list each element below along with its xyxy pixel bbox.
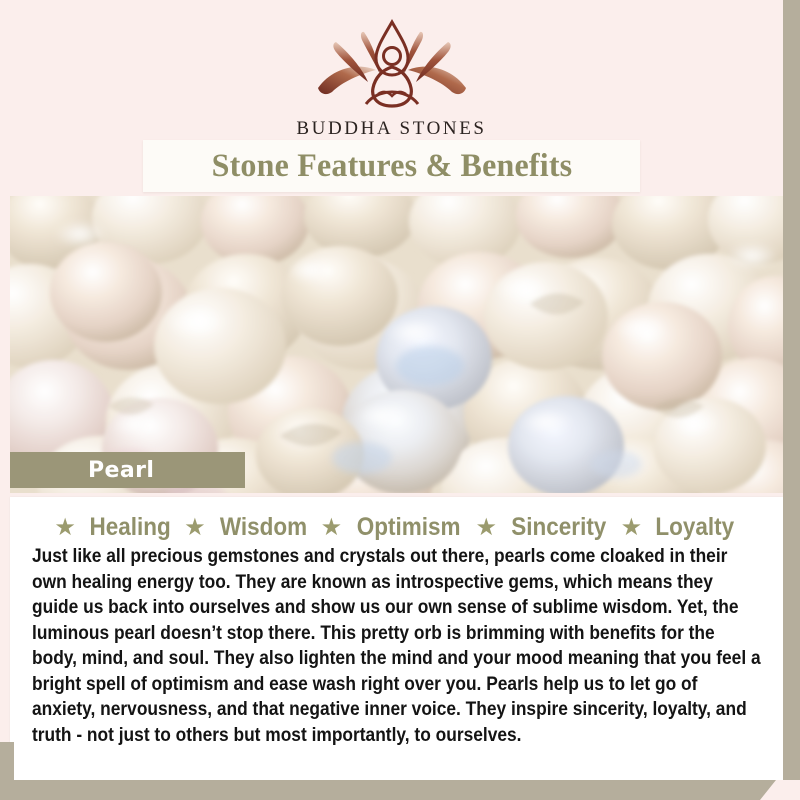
frame-border-bottom (0, 780, 800, 800)
description-text: Just like all precious gemstones and cry… (32, 544, 761, 748)
page-stage: BUDDHA STONES Stone Features & Benefits (0, 0, 783, 782)
infographic-page: BUDDHA STONES Stone Features & Benefits (0, 0, 800, 800)
star-icon: ★ (475, 516, 497, 540)
page-title: Stone Features & Benefits (211, 148, 572, 185)
stone-name-label: Pearl (88, 458, 154, 483)
frame-border-left (0, 742, 14, 800)
brand-name: BUDDHA STONES (0, 118, 783, 140)
content-panel: ★ Healing ★ Wisdom ★ Optimism ★ Sincerit… (10, 497, 783, 780)
star-icon: ★ (54, 516, 76, 540)
brand-logo: BUDDHA STONES (0, 18, 783, 140)
benefit-sincerity: Sincerity (511, 515, 606, 540)
benefit-loyalty: Loyalty (656, 515, 735, 540)
benefit-optimism: Optimism (357, 515, 461, 540)
benefit-healing: Healing (89, 515, 170, 540)
stone-name-tag: Pearl (10, 452, 245, 488)
benefit-wisdom: Wisdom (220, 515, 307, 540)
star-icon: ★ (621, 516, 643, 540)
title-banner: Stone Features & Benefits (143, 140, 640, 192)
star-icon: ★ (184, 516, 206, 540)
frame-border-right (783, 0, 800, 800)
lotus-meditation-icon (0, 18, 783, 114)
benefits-list: ★ Healing ★ Wisdom ★ Optimism ★ Sincerit… (32, 515, 761, 540)
star-icon: ★ (321, 516, 343, 540)
pearls-photo (10, 196, 783, 493)
